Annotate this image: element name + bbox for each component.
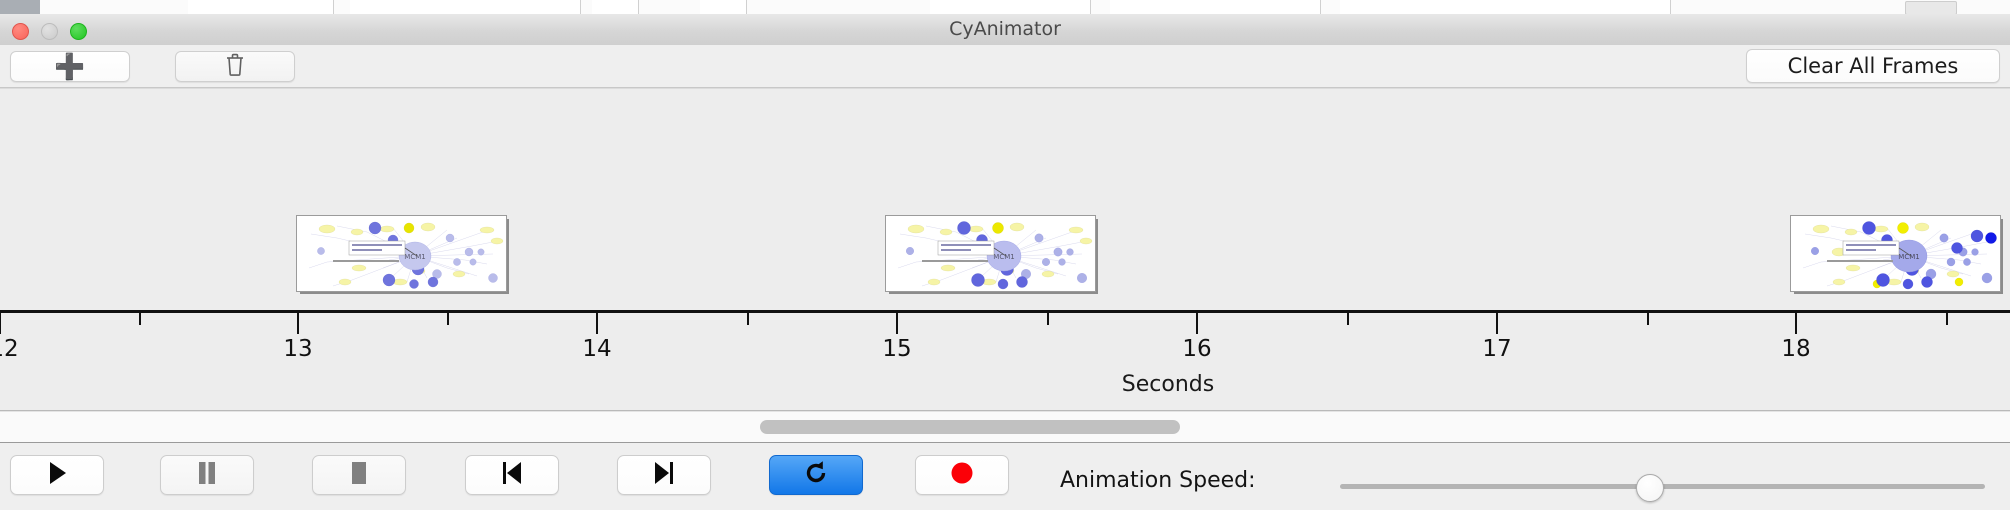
ruler-label: 16: [1182, 336, 1211, 362]
background-window-strip: [0, 0, 2010, 14]
loop-icon: [803, 460, 829, 490]
ruler-tick-major: [1795, 313, 1797, 334]
background-toolbar-button: [1905, 1, 1957, 14]
thumbnail-image: MCM1: [885, 215, 1096, 292]
play-icon: [47, 461, 67, 489]
ruler-tick-minor: [139, 313, 141, 325]
clear-all-frames-label: Clear All Frames: [1788, 54, 1959, 78]
record-button[interactable]: [915, 455, 1009, 495]
ruler-baseline: [0, 310, 2010, 313]
background-segment: [592, 0, 639, 14]
ruler-tick-major: [1196, 313, 1198, 334]
ruler-label: 15: [882, 336, 911, 362]
background-segment: [0, 0, 40, 14]
ruler-tick-major: [0, 313, 1, 334]
network-graph-high: MCM1: [1791, 216, 2000, 291]
animation-speed-slider-thumb[interactable]: [1636, 474, 1664, 502]
background-segment: [1340, 0, 1671, 14]
pause-button[interactable]: [160, 455, 254, 495]
ruler-label: 14: [582, 336, 611, 362]
record-icon: [950, 461, 974, 489]
timeline-panel[interactable]: MCM1: [0, 88, 2010, 411]
window-title: CyAnimator: [0, 14, 2010, 45]
delete-frame-button[interactable]: [175, 51, 295, 82]
thumbnail-image: MCM1: [1790, 215, 2001, 292]
ruler-label: 17: [1482, 336, 1511, 362]
background-segment: [350, 0, 581, 14]
network-graph-medium: MCM1: [886, 216, 1095, 291]
timeline-horizontal-scrollbar[interactable]: [0, 411, 2010, 444]
title-bar: CyAnimator: [0, 14, 2010, 46]
play-button[interactable]: [10, 455, 104, 495]
ruler-label: 18: [1781, 336, 1810, 362]
loop-button[interactable]: [769, 455, 863, 495]
pause-icon: [197, 461, 217, 489]
ruler-tick-major: [596, 313, 598, 334]
cyanimator-window: CyAnimator ➕ Clear All Frames: [0, 0, 2010, 510]
skip-to-end-button[interactable]: [617, 455, 711, 495]
ruler-tick-minor: [1647, 313, 1649, 325]
ruler-tick-minor: [1946, 313, 1948, 325]
clear-all-frames-button[interactable]: Clear All Frames: [1746, 49, 2000, 83]
plus-icon: ➕: [54, 54, 85, 79]
frame-thumbnail-2[interactable]: MCM1: [885, 215, 1094, 290]
background-segment: [930, 0, 1091, 14]
ruler-tick-major: [896, 313, 898, 334]
frame-toolbar: ➕ Clear All Frames: [0, 45, 2010, 88]
network-graph-low: MCM1: [297, 216, 506, 291]
skip-back-icon: [501, 461, 523, 489]
ruler-tick-minor: [1047, 313, 1049, 325]
background-segment: [1110, 0, 1321, 14]
background-segment: [700, 0, 747, 14]
frame-thumbnail-1[interactable]: MCM1: [296, 215, 505, 290]
add-frame-button[interactable]: ➕: [10, 51, 130, 82]
frame-thumbnail-3[interactable]: MCM1: [1790, 215, 1999, 290]
stop-button[interactable]: [312, 455, 406, 495]
playback-control-bar: Animation Speed:: [0, 443, 2010, 510]
ruler-label: 12: [0, 336, 19, 362]
skip-to-start-button[interactable]: [465, 455, 559, 495]
timeline-ruler[interactable]: 12 13 14 15 16 17 18 Seconds: [0, 310, 2010, 410]
thumbnail-image: MCM1: [296, 215, 507, 292]
skip-forward-icon: [653, 461, 675, 489]
ruler-tick-major: [1496, 313, 1498, 334]
animation-speed-label: Animation Speed:: [1060, 468, 1256, 493]
trash-icon: [224, 52, 246, 82]
ruler-tick-minor: [1347, 313, 1349, 325]
ruler-label: 13: [283, 336, 312, 362]
ruler-tick-minor: [747, 313, 749, 325]
stop-icon: [349, 461, 369, 489]
timeline-top-divider: [0, 88, 2010, 89]
ruler-tick-major: [297, 313, 299, 334]
scrollbar-thumb[interactable]: [760, 420, 1180, 434]
axis-title-seconds: Seconds: [1122, 372, 1214, 397]
background-segment: [188, 0, 334, 14]
ruler-tick-minor: [447, 313, 449, 325]
